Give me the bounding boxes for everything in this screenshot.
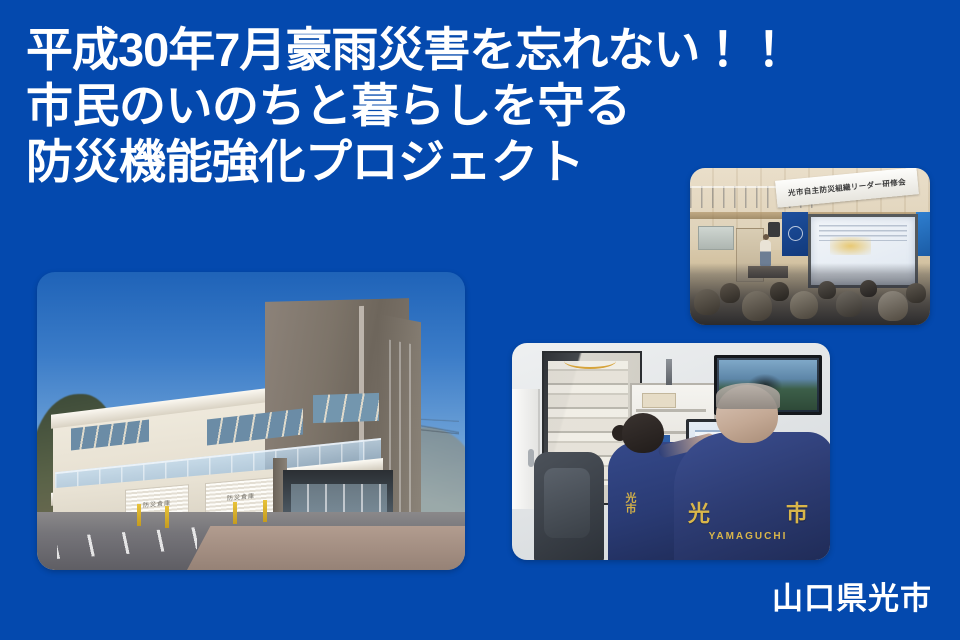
seminar-audience xyxy=(690,263,930,325)
staff-female-head xyxy=(622,413,664,453)
photo-building-inner: 防災倉庫 防災倉庫 xyxy=(37,272,465,570)
wall-board xyxy=(698,226,734,250)
office-chair xyxy=(534,452,604,560)
audience-head xyxy=(836,291,862,317)
audience-head xyxy=(790,291,818,319)
headline-line-3: 防災機能強化プロジェクト xyxy=(26,134,926,190)
ceiling-speaker xyxy=(768,222,780,237)
poster-canvas: 平成30年7月豪雨災害を忘れない！！ 市民のいのちと暮らしを守る 防災機能強化プ… xyxy=(0,0,960,640)
headline-line-1: 平成30年7月豪雨災害を忘れない！！ xyxy=(26,22,926,78)
cabinet-shelves xyxy=(636,409,706,412)
audience-head xyxy=(878,291,908,321)
uniform-kanji-left: 光 xyxy=(688,504,710,526)
hall-flag-right xyxy=(916,212,930,256)
photo-control-room: 光市 光 市 YAMAGUCHI xyxy=(512,343,830,560)
photo-control-room-inner: 光市 光 市 YAMAGUCHI xyxy=(512,343,830,560)
headline-block: 平成30年7月豪雨災害を忘れない！！ 市民のいのちと暮らしを守る 防災機能強化プ… xyxy=(26,22,926,190)
antenna xyxy=(666,359,672,385)
audience-head xyxy=(860,280,877,297)
audience-head xyxy=(770,282,789,301)
audience-head xyxy=(818,281,836,299)
headline-line-2: 市民のいのちと暮らしを守る xyxy=(26,78,926,134)
city-credit: 山口県光市 xyxy=(772,582,932,616)
audience-head xyxy=(742,291,772,321)
cabinet-box-upper xyxy=(642,393,676,408)
bollard-2 xyxy=(165,506,169,528)
uniform-romaji: YAMAGUCHI xyxy=(688,531,808,542)
audience-head xyxy=(906,283,926,303)
uniform-kanji-group: 光 市 xyxy=(688,504,808,526)
audience-head xyxy=(720,283,740,303)
bollard-1 xyxy=(137,504,141,526)
uniform-small-text: 光市 xyxy=(624,492,636,514)
bollard-3 xyxy=(233,502,237,524)
bollard-4 xyxy=(263,500,267,522)
hall-flag-left xyxy=(782,212,808,256)
photo-seminar-inner: 光市自主防災組織リーダー研修会 xyxy=(690,168,930,325)
garage-shutter-left-label: 防災倉庫 xyxy=(126,496,188,510)
building-window-right xyxy=(313,393,379,423)
staff-male-hair xyxy=(716,383,780,409)
photo-seminar: 光市自主防災組織リーダー研修会 xyxy=(690,168,930,325)
brick-pavement xyxy=(187,526,465,570)
photo-building: 防災倉庫 防災倉庫 xyxy=(37,272,465,570)
projection-screen-content xyxy=(819,225,907,241)
rack-cable xyxy=(564,353,616,369)
audience-head xyxy=(694,289,720,315)
uniform-kanji-right: 市 xyxy=(786,504,808,526)
